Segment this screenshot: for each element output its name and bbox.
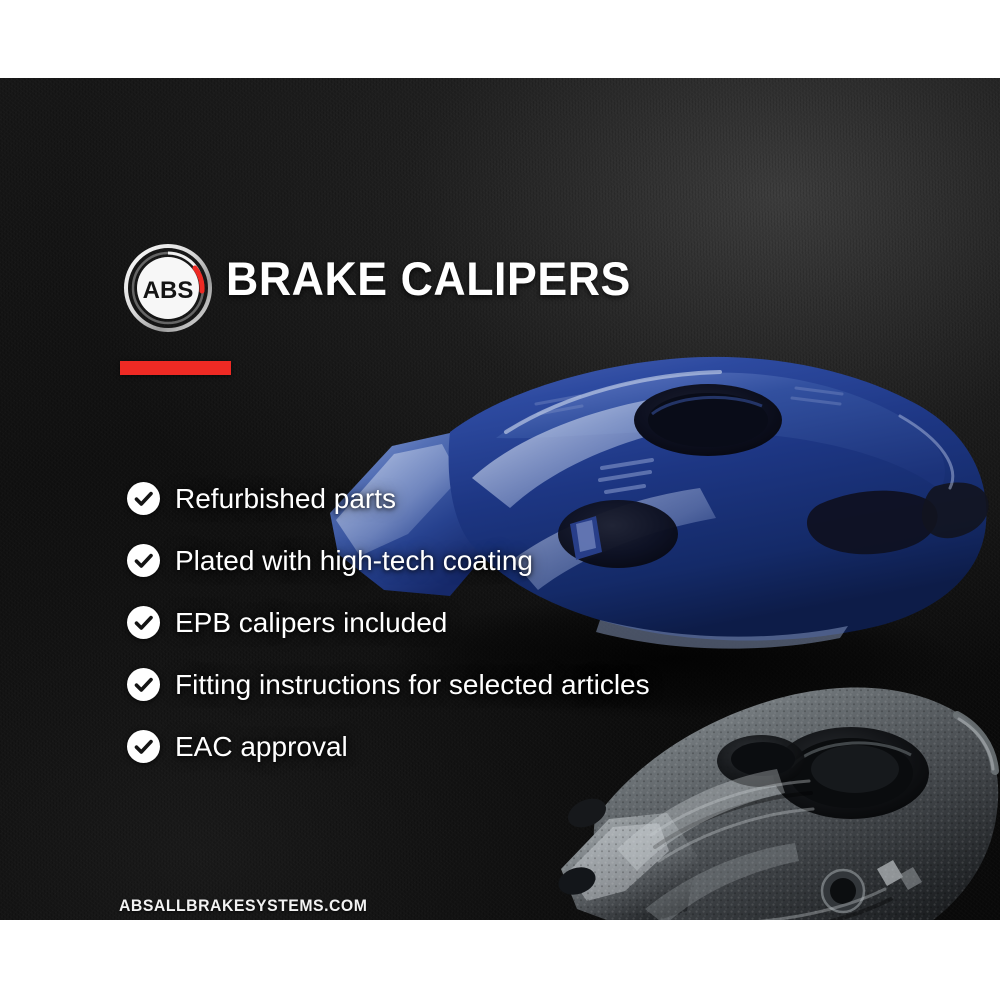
feature-label: EPB calipers included <box>175 606 447 639</box>
abs-logo-text: ABS <box>143 277 194 304</box>
feature-item-plated-coating: Plated with high-tech coating <box>127 529 650 591</box>
feature-label: Refurbished parts <box>175 482 396 515</box>
abs-logo[interactable]: ABS <box>124 244 212 332</box>
check-circle-icon <box>127 730 160 763</box>
feature-item-fitting-instructions: Fitting instructions for selected articl… <box>127 653 650 715</box>
feature-label: Fitting instructions for selected articl… <box>175 668 650 701</box>
promo-banner: ABS BRAKE CALIPERS Refurbished parts <box>0 0 1000 1000</box>
title-divider <box>120 361 231 375</box>
feature-item-epb-calipers: EPB calipers included <box>127 591 650 653</box>
feature-list: Refurbished parts Plated with high-tech … <box>127 467 650 777</box>
page-title: BRAKE CALIPERS <box>226 250 631 308</box>
check-circle-icon <box>127 668 160 701</box>
feature-label: Plated with high-tech coating <box>175 544 533 577</box>
dark-panel: ABS BRAKE CALIPERS Refurbished parts <box>0 78 1000 920</box>
check-circle-icon <box>127 482 160 515</box>
check-circle-icon <box>127 606 160 639</box>
abs-circular-badge-icon: ABS <box>124 244 212 332</box>
feature-label: EAC approval <box>175 730 348 763</box>
website-url[interactable]: ABSALLBRAKESYSTEMS.COM <box>119 896 367 916</box>
feature-item-refurbished-parts: Refurbished parts <box>127 467 650 529</box>
check-circle-icon <box>127 544 160 577</box>
feature-item-eac-approval: EAC approval <box>127 715 650 777</box>
